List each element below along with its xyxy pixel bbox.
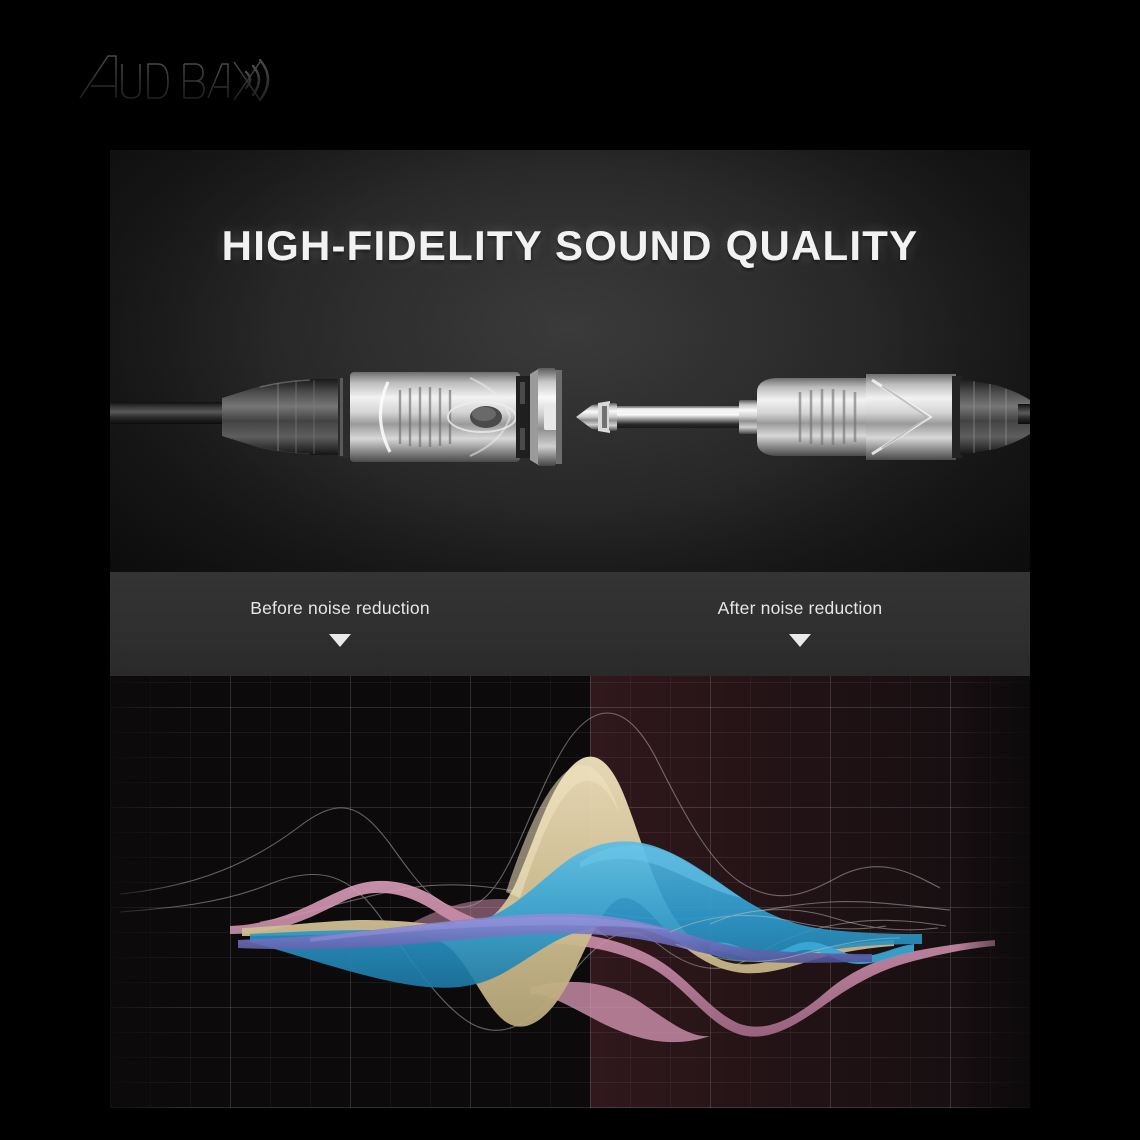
chevron-down-icon (329, 634, 351, 647)
caption-after-label: After noise reduction (570, 598, 1030, 619)
waveform-visualization (110, 676, 1030, 1108)
caption-band: Before noise reduction After noise reduc… (110, 572, 1030, 676)
connector-artwork (110, 362, 1030, 472)
xlr-female-connector (110, 368, 562, 466)
page-title: HIGH-FIDELITY SOUND QUALITY (110, 222, 1030, 270)
brand-wordmark (80, 56, 260, 100)
brand-logo (78, 48, 278, 106)
caption-before: Before noise reduction (110, 572, 570, 676)
hero-section: HIGH-FIDELITY SOUND QUALITY (110, 150, 1030, 572)
hero-vignette (110, 150, 1030, 572)
product-panel: HIGH-FIDELITY SOUND QUALITY (110, 150, 1030, 1108)
waveform-curves (110, 676, 1030, 1108)
chevron-down-icon (789, 634, 811, 647)
caption-after: After noise reduction (570, 572, 1030, 676)
caption-before-label: Before noise reduction (110, 598, 570, 619)
